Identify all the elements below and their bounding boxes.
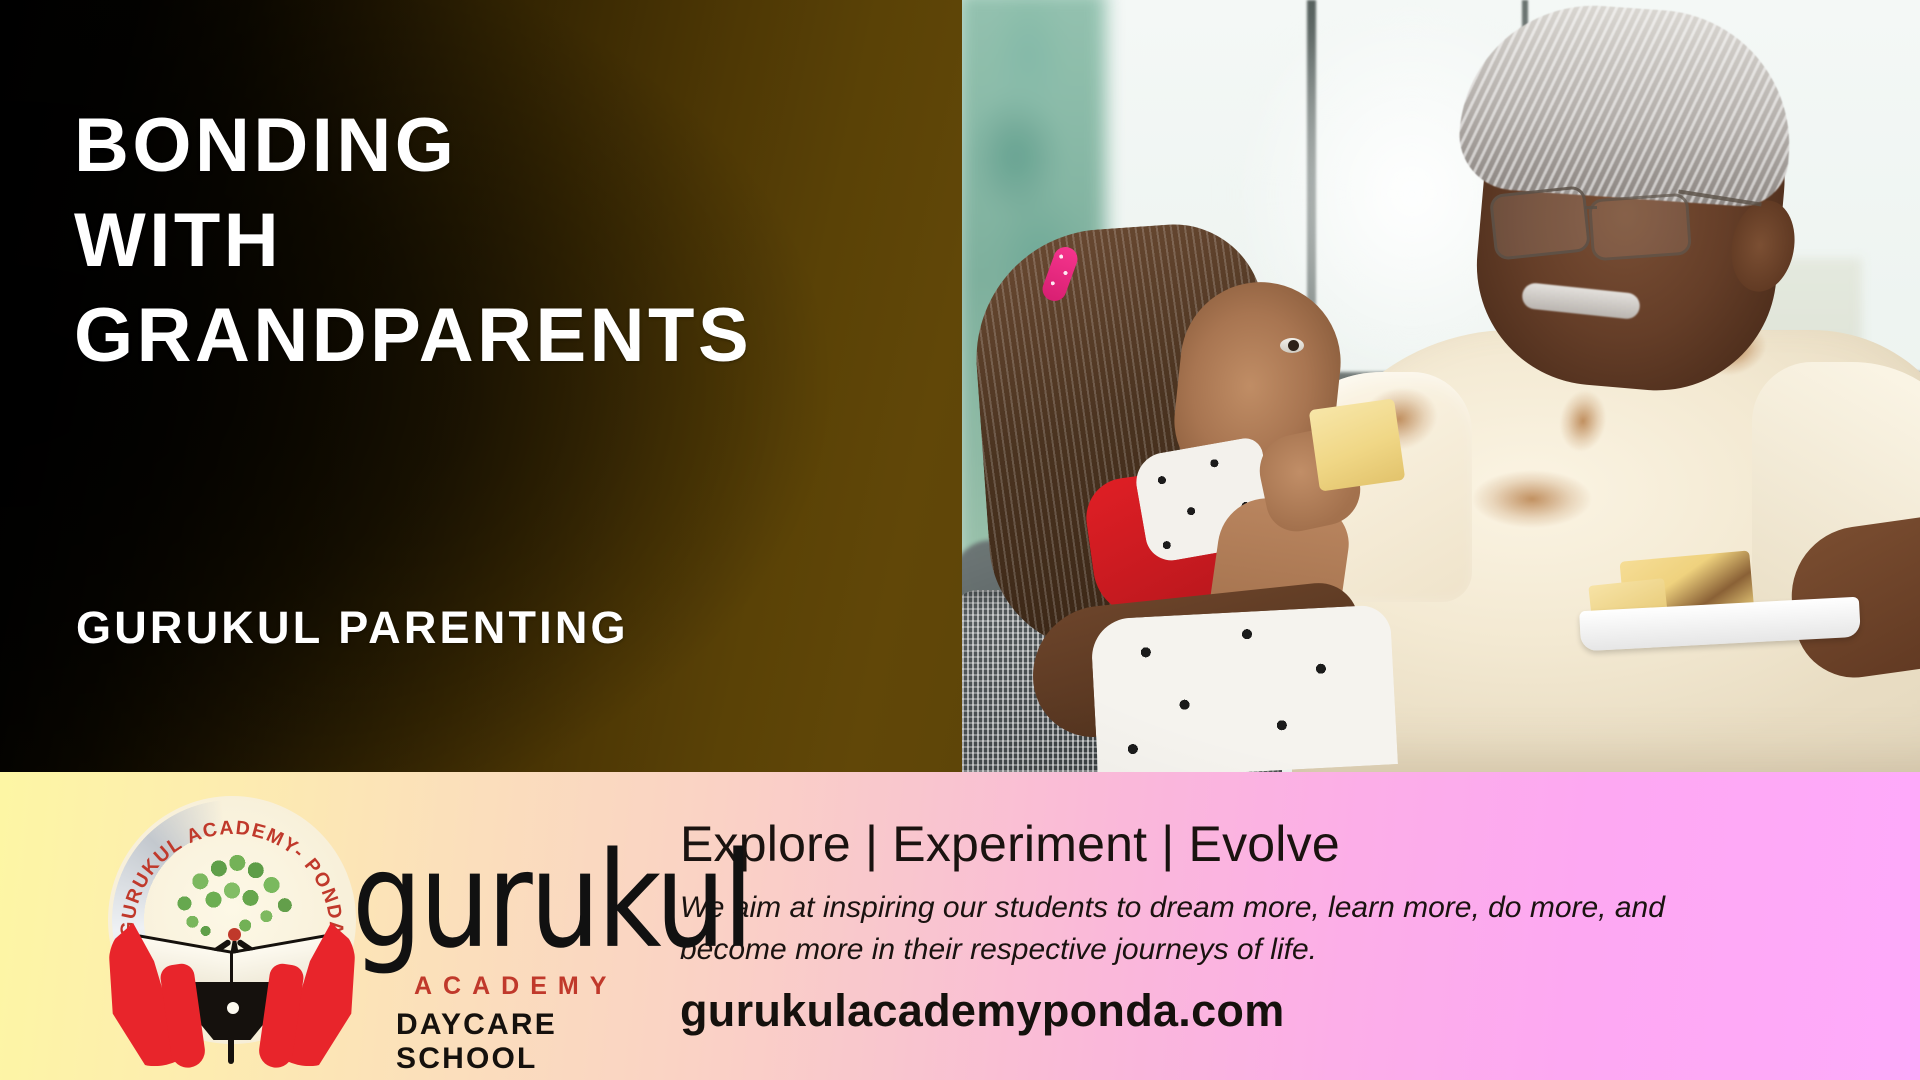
school-emblem: GURUKUL ACADEMY- PONDA	[108, 796, 356, 1044]
footer-band: GURUKUL ACADEMY- PONDA	[0, 772, 1920, 1080]
footer-mission-statement: We aim at inspiring our students to drea…	[680, 887, 1690, 971]
kurta-embroidery-placket	[1472, 470, 1592, 528]
footer-text-block: Explore | Experiment | Evolve We aim at …	[680, 815, 1920, 1037]
poster-canvas: BONDING WITH GRANDPARENTS GURUKUL PARENT…	[0, 0, 1920, 1080]
hero-subtitle: GURUKUL PARENTING	[76, 602, 629, 654]
wordmark-gurukul: gurukul	[352, 816, 751, 984]
wordmark-academy: ACADEMY	[414, 972, 617, 1001]
eyeglasses-lens-left	[1489, 185, 1591, 261]
brand-wordmark: gurukul ACADEMY DAYCARE SCHOOL	[352, 816, 652, 1046]
brand-logo-lockup: GURUKUL ACADEMY- PONDA	[0, 772, 680, 1080]
hero-photo	[962, 0, 1920, 772]
hero-text-block: BONDING WITH GRANDPARENTS GURUKUL PARENT…	[74, 0, 934, 772]
hero-band: BONDING WITH GRANDPARENTS GURUKUL PARENT…	[0, 0, 1920, 772]
eyeglasses-lens-right	[1588, 193, 1692, 262]
page-title: BONDING WITH GRANDPARENTS	[74, 98, 752, 383]
cupping-hands-icon	[108, 916, 356, 1066]
footer-website-url[interactable]: gurukulacademyponda.com	[680, 985, 1860, 1037]
wordmark-daycare-school: DAYCARE SCHOOL	[396, 1008, 652, 1076]
eyeglasses-bridge	[1585, 206, 1597, 209]
footer-tagline: Explore | Experiment | Evolve	[680, 815, 1860, 873]
child-dress-skirt	[1090, 604, 1398, 772]
child-eye	[1280, 338, 1304, 353]
child-cake-piece	[1309, 398, 1406, 491]
